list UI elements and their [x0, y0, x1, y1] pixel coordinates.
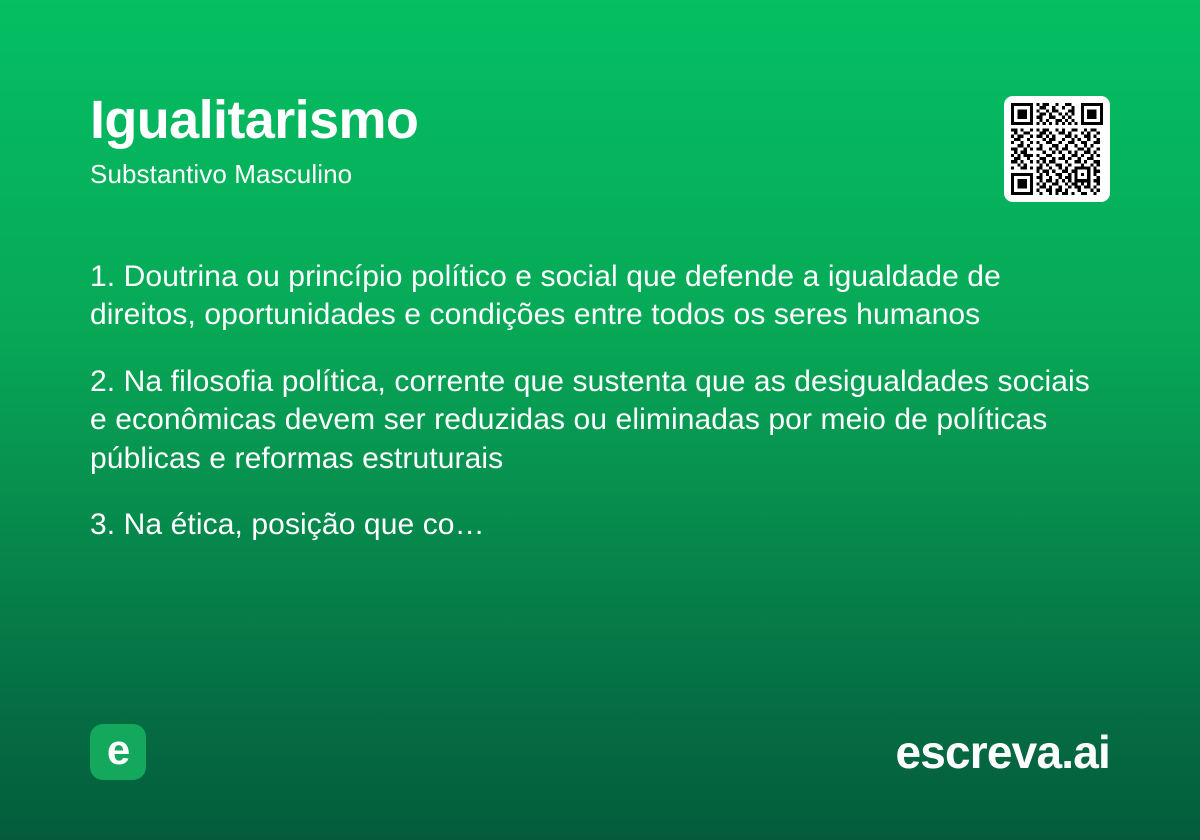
logo-glyph: e	[107, 729, 129, 771]
card-footer: e escreva.ai	[90, 724, 1110, 780]
definition-item-3: 3. Na ética, posição que co…	[90, 506, 1100, 544]
page-title: Igualitarismo	[90, 92, 418, 149]
definition-item-2: 2. Na filosofia política, corrente que s…	[90, 363, 1100, 478]
definition-list: 1. Doutrina ou princípio político e soci…	[90, 258, 1100, 544]
card-header: Igualitarismo Substantivo Masculino	[90, 90, 1110, 202]
definition-item-1: 1. Doutrina ou princípio político e soci…	[90, 258, 1100, 335]
escreva-logo-icon: e	[90, 724, 146, 780]
brand-name: escreva.ai	[895, 729, 1110, 775]
definition-card: Igualitarismo Substantivo Masculino	[0, 0, 1200, 840]
qr-code[interactable]	[1004, 96, 1110, 202]
qr-code-icon	[1011, 103, 1103, 195]
heading-group: Igualitarismo Substantivo Masculino	[90, 90, 418, 190]
word-class-label: Substantivo Masculino	[90, 159, 418, 190]
